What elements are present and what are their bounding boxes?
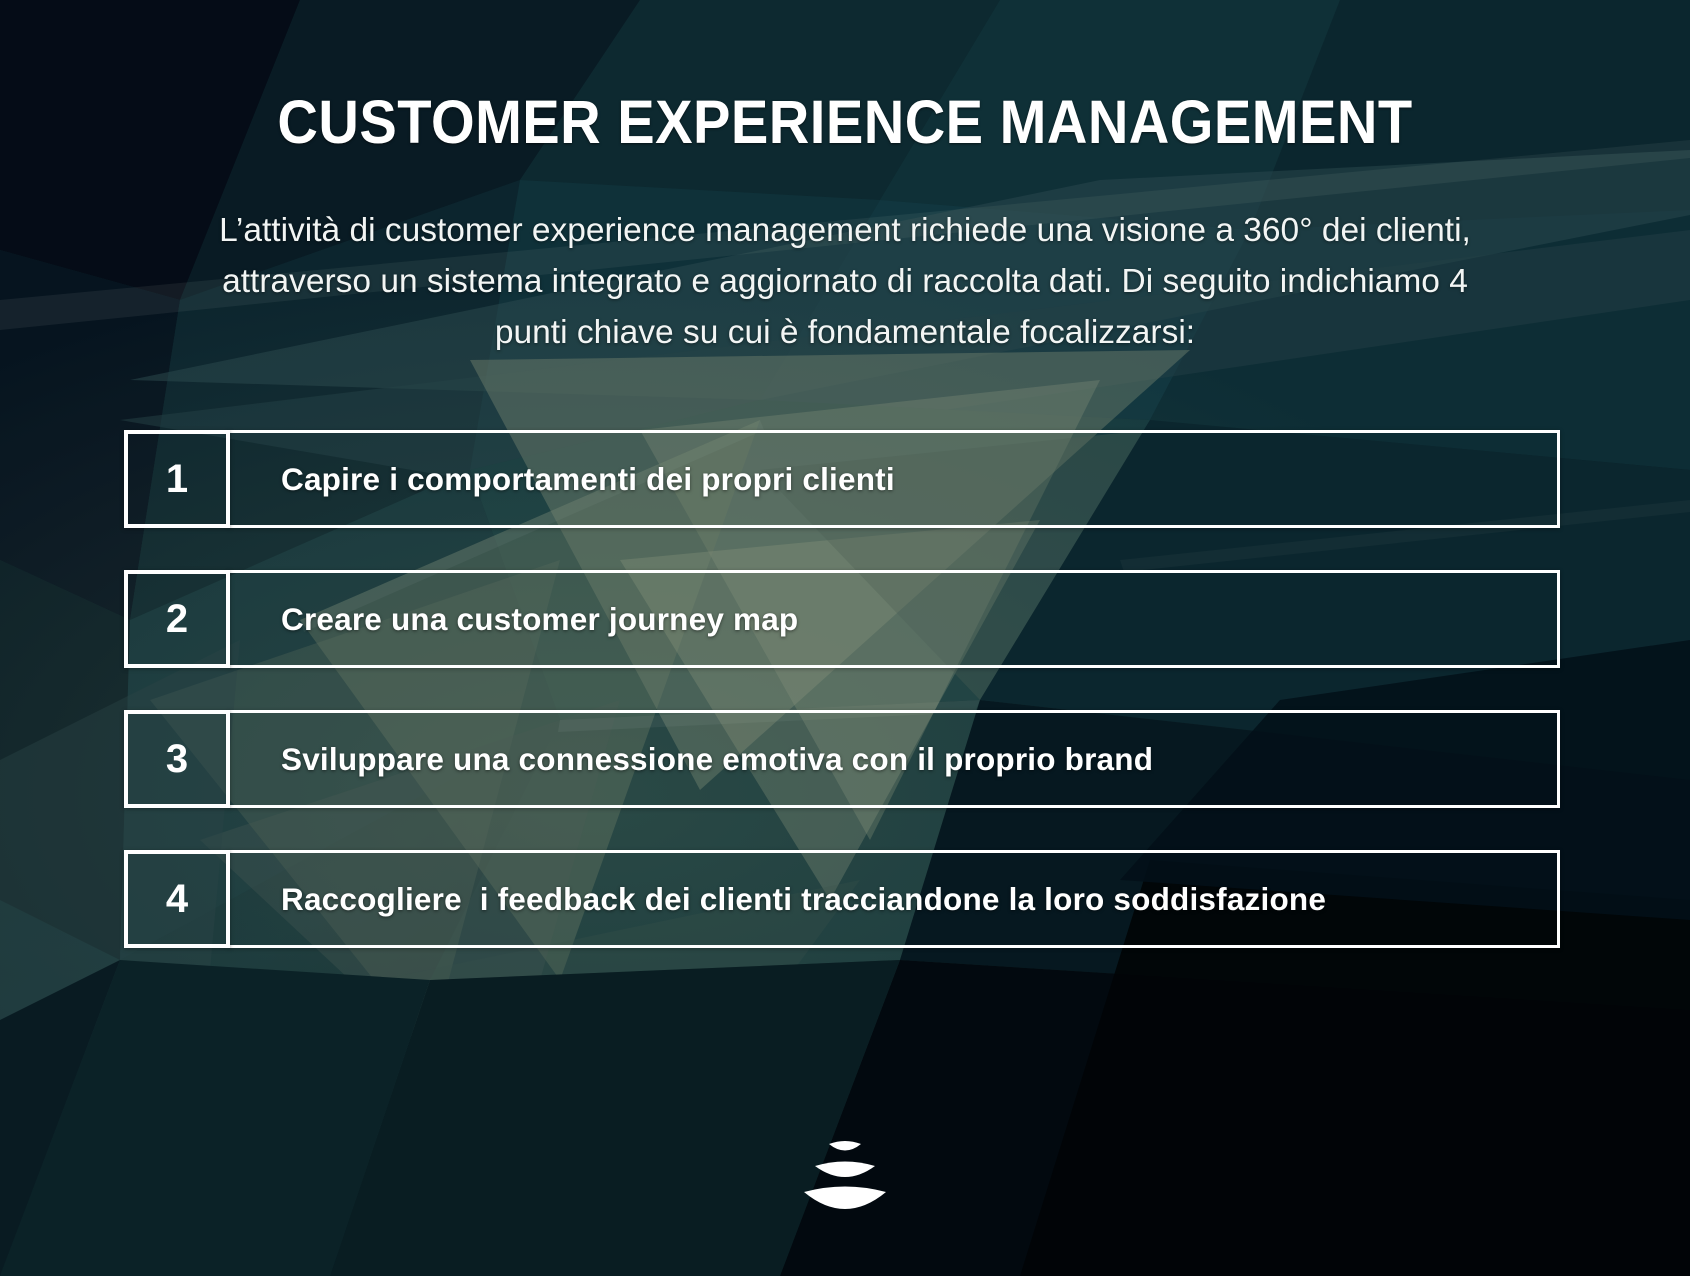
point-label-2: Creare una customer journey map bbox=[228, 601, 798, 638]
point-bar-4: Raccogliere i feedback dei clienti tracc… bbox=[228, 850, 1560, 948]
stacked-bowls-logo-icon bbox=[796, 1126, 894, 1226]
point-number-4: 4 bbox=[166, 877, 188, 922]
list-item[interactable]: 3 Sviluppare una connessione emotiva con… bbox=[124, 710, 1560, 808]
intro-line-3: punti chiave su cui è fondamentale focal… bbox=[120, 307, 1570, 358]
point-bar-1: Capire i comportamenti dei propri client… bbox=[228, 430, 1560, 528]
point-number-box-1: 1 bbox=[124, 430, 230, 528]
point-number-2: 2 bbox=[166, 597, 188, 642]
point-label-1: Capire i comportamenti dei propri client… bbox=[228, 461, 895, 498]
point-number-1: 1 bbox=[166, 457, 188, 502]
point-label-3: Sviluppare una connessione emotiva con i… bbox=[228, 741, 1153, 778]
point-label-4: Raccogliere i feedback dei clienti tracc… bbox=[228, 881, 1326, 918]
page-title: CUSTOMER EXPERIENCE MANAGEMENT bbox=[68, 90, 1623, 154]
point-bar-3: Sviluppare una connessione emotiva con i… bbox=[228, 710, 1560, 808]
point-number-box-4: 4 bbox=[124, 850, 230, 948]
point-number-box-2: 2 bbox=[124, 570, 230, 668]
intro-line-1: L’attività di customer experience manage… bbox=[120, 205, 1570, 256]
key-points-list: 1 Capire i comportamenti dei propri clie… bbox=[124, 430, 1560, 948]
point-bar-2: Creare una customer journey map bbox=[228, 570, 1560, 668]
list-item[interactable]: 1 Capire i comportamenti dei propri clie… bbox=[124, 430, 1560, 528]
list-item[interactable]: 2 Creare una customer journey map bbox=[124, 570, 1560, 668]
intro-line-2: attraverso un sistema integrato e aggior… bbox=[120, 256, 1570, 307]
slide-canvas: CUSTOMER EXPERIENCE MANAGEMENT L’attivit… bbox=[0, 0, 1690, 1276]
list-item[interactable]: 4 Raccogliere i feedback dei clienti tra… bbox=[124, 850, 1560, 948]
intro-paragraph: L’attività di customer experience manage… bbox=[120, 205, 1570, 358]
point-number-3: 3 bbox=[166, 737, 188, 782]
point-number-box-3: 3 bbox=[124, 710, 230, 808]
